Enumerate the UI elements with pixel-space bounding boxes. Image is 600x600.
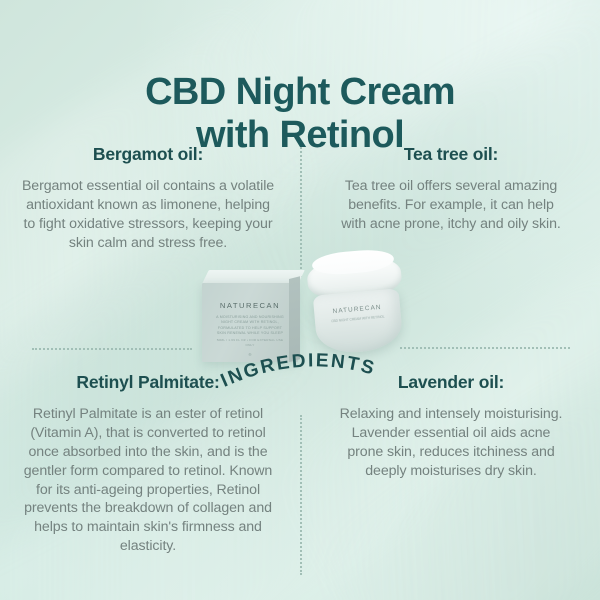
box-description-line-1: A MOISTURISING AND NOURISHING NIGHT CREA…: [213, 315, 287, 337]
divider-vertical-bottom: [300, 415, 302, 575]
divider-horizontal-right: [400, 347, 570, 349]
infographic-canvas: CBD Night Cream with Retinol Bergamot oi…: [0, 0, 600, 600]
panel-bergamot-oil: Bergamot oil: Bergamot essential oil con…: [14, 144, 282, 253]
ingredients-arc-text: INGREDIENTS: [218, 350, 379, 391]
panel-body-tea-tree-oil: Tea tree oil offers several amazing bene…: [320, 177, 582, 234]
panel-body-retinyl-palmitate: Retinyl Palmitate is an ester of retinol…: [14, 405, 282, 556]
panel-tea-tree-oil: Tea tree oil: Tea tree oil offers severa…: [320, 144, 582, 234]
panel-heading-tea-tree-oil: Tea tree oil:: [320, 144, 582, 165]
ingredients-arc-label: INGREDIENTS: [190, 346, 410, 408]
box-brand-name: NATURECAN: [202, 301, 298, 310]
divider-horizontal-left: [32, 348, 192, 350]
panel-body-bergamot-oil: Bergamot essential oil contains a volati…: [14, 177, 282, 253]
panel-heading-bergamot-oil: Bergamot oil:: [14, 144, 282, 165]
panel-body-lavender-oil: Relaxing and intensely moisturising. Lav…: [320, 405, 582, 481]
